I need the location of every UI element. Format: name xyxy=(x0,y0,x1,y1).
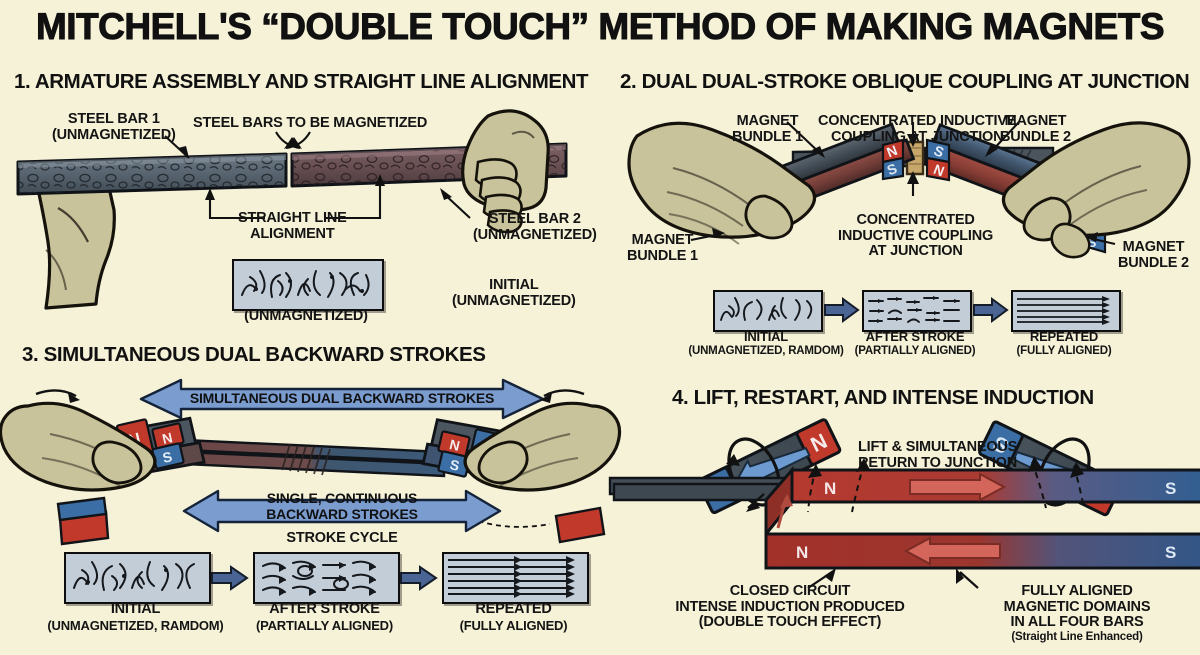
lift-l1: LIFT & SIMULTANEOUS xyxy=(858,440,1017,456)
magnet-bundle-2-poles: S N xyxy=(927,140,949,180)
circuit-bottom-n: N xyxy=(796,543,808,562)
panel-3-domain-box-1 xyxy=(253,552,400,604)
circuit-top-n: N xyxy=(824,479,836,498)
panel-1-heading: 1. ARMATURE ASSEMBLY AND STRAIGHT LINE A… xyxy=(14,70,588,94)
steel-bar-1-state: (UNMAGNETIZED) xyxy=(52,128,176,144)
domain-full-icon xyxy=(444,554,583,598)
panel-1-bars-to-magnetize-label: STEEL BARS TO BE MAGNETIZED xyxy=(193,116,427,132)
panel-2-bundle-2-right-label: MAGNET BUNDLE 2 xyxy=(1118,240,1189,271)
panel-3-seq-1-sub: (PARTIALLY ALIGNED) xyxy=(243,619,406,633)
steel-bar-2-state: (UNMAGNETIZED) xyxy=(473,228,597,244)
panel-3-arrow-0 xyxy=(212,567,248,589)
panel-3-mid-arrow: SINGLE, CONTINUOUS BACKWARD STROKES xyxy=(184,489,500,533)
panel-2-coupling-bottom-label: CONCENTRATED INDUCTIVE COUPLING AT JUNCT… xyxy=(838,213,993,260)
bundle-2-right-l2: BUNDLE 2 xyxy=(1118,256,1189,272)
panel-4-lift-label: LIFT & SIMULTANEOUS RETURN TO JUNCTION xyxy=(858,440,1017,471)
aligned-l1: FULLY ALIGNED xyxy=(962,584,1192,600)
aligned-l4: (Straight Line Enhanced) xyxy=(962,631,1192,643)
coupling-bot-l1: CONCENTRATED xyxy=(838,213,993,229)
panel-2-domain-box-1 xyxy=(862,290,972,332)
panel-2-bundle-2-top-label: MAGNET BUNDLE 2 xyxy=(1000,114,1071,145)
panel-2-heading: 2. DUAL DUAL-STROKE OBLIQUE COUPLING AT … xyxy=(620,70,1189,94)
panel-3-heading: 3. SIMULTANEOUS DUAL BACKWARD STROKES xyxy=(22,343,486,367)
panel-2-seq-0-sub: (UNMAGNETIZED, RAMDOM) xyxy=(688,345,844,357)
bundle-1-top-l1: MAGNET xyxy=(732,114,803,130)
lift-l2: RETURN TO JUNCTION xyxy=(858,456,1017,472)
panel-4-aligned-label: FULLY ALIGNED MAGNETIC DOMAINS IN ALL FO… xyxy=(962,584,1192,643)
closed-circuit-l2: INTENSE INDUCTION PRODUCED xyxy=(640,600,940,616)
coupling-top-l2: COUPLING AT JUNCTION xyxy=(818,130,1016,146)
bundle-1-left-l1: MAGNET xyxy=(627,233,698,249)
closed-circuit-l1: CLOSED CIRCUIT xyxy=(640,584,940,600)
panel-3-seq-0-sub: (UNMAGNETIZED, RAMDOM) xyxy=(44,619,227,633)
circuit-top-s: S xyxy=(1165,479,1176,498)
closed-circuit-l3: (DOUBLE TOUCH EFFECT) xyxy=(640,615,940,631)
panel-1-straight-line-label: STRAIGHT LINE ALIGNMENT xyxy=(238,211,347,242)
panel-2-seq-1-title: AFTER STROKE xyxy=(862,330,968,344)
panel-3-seq-2-sub: (FULLY ALIGNED) xyxy=(437,619,590,633)
steel-bar-2-title: STEEL BAR 2 xyxy=(473,212,597,228)
panel-2-seq-2-title: REPEATED xyxy=(1011,330,1117,344)
panel-3-seq-1-title: AFTER STROKE xyxy=(253,602,396,618)
bundle-1-top-l2: BUNDLE 1 xyxy=(732,130,803,146)
panel-1-initial-label: INITIAL (UNMAGNETIZED) xyxy=(452,278,576,309)
panel-2-arrow-0 xyxy=(825,299,859,321)
panel-1-domain-caption: (UNMAGNETIZED) xyxy=(232,309,380,325)
double-arrow-icon xyxy=(184,489,500,533)
panel-2-domain-box-2 xyxy=(1011,290,1121,332)
panel-3-arrow-1 xyxy=(401,567,437,589)
panel-3-domain-box-0 xyxy=(64,552,211,604)
panel-3-seq-2-title: REPEATED xyxy=(442,602,585,618)
domain-partial-icon xyxy=(255,554,394,598)
domain-random-icon xyxy=(66,554,205,598)
panel-3-stroke-cycle-label: STROKE CYCLE xyxy=(184,531,500,547)
panel-2-coupling-top-label: CONCENTRATED INDUCTIVE COUPLING AT JUNCT… xyxy=(818,114,1016,145)
panel-3-seq-0-title: INITIAL xyxy=(64,602,207,618)
aligned-l2: MAGNETIC DOMAINS xyxy=(962,600,1192,616)
bundle-2-top-l2: BUNDLE 2 xyxy=(1000,130,1071,146)
domain-partial-icon xyxy=(864,292,966,326)
magnet-bundle-1-poles: N S xyxy=(883,140,903,179)
panel-4-heading: 4. LIFT, RESTART, AND INTENSE INDUCTION xyxy=(672,386,1094,410)
panel-2-bundle-1-top-label: MAGNET BUNDLE 1 xyxy=(732,114,803,145)
domain-random-icon xyxy=(234,261,378,305)
straight-line-text: STRAIGHT LINE xyxy=(238,211,347,227)
domain-full-icon xyxy=(1013,292,1115,326)
circuit-bottom-s: S xyxy=(1165,543,1176,562)
panel-2-bundle-1-left-label: MAGNET BUNDLE 1 xyxy=(627,233,698,264)
page-title: MITCHELL'S “DOUBLE TOUCH” METHOD OF MAKI… xyxy=(0,6,1200,48)
panel-2-seq-2-sub: (FULLY ALIGNED) xyxy=(1001,345,1127,357)
coupling-bot-l2: INDUCTIVE COUPLING xyxy=(838,229,993,245)
steel-bar-1 xyxy=(18,154,286,194)
coupling-top-l1: CONCENTRATED INDUCTIVE xyxy=(818,114,1016,130)
bundle-2-right-l1: MAGNET xyxy=(1118,240,1189,256)
coupling-bot-l3: AT JUNCTION xyxy=(838,244,993,260)
panel-2-domain-box-0 xyxy=(713,290,823,332)
panel-2-seq-0-title: INITIAL xyxy=(713,330,819,344)
panel-2-seq-1-sub: (PARTIALLY ALIGNED) xyxy=(847,345,983,357)
domain-random-icon xyxy=(715,292,817,326)
infographic-canvas: MITCHELL'S “DOUBLE TOUCH” METHOD OF MAKI… xyxy=(0,0,1200,655)
panel-4-closed-circuit: N S N S xyxy=(614,470,1200,568)
panel-2-arrow-1 xyxy=(974,299,1008,321)
initial-sub: (UNMAGNETIZED) xyxy=(452,294,576,310)
initial-title: INITIAL xyxy=(452,278,576,294)
steel-bar-1-title: STEEL BAR 1 xyxy=(52,112,176,128)
panel-3-domain-box-2 xyxy=(442,552,589,604)
alignment-text: ALIGNMENT xyxy=(238,227,347,243)
aligned-l3: IN ALL FOUR BARS xyxy=(962,615,1192,631)
panel-1-steel-bar-2-label: STEEL BAR 2 (UNMAGNETIZED) xyxy=(473,212,597,243)
bundle-2-top-l1: MAGNET xyxy=(1000,114,1071,130)
panel-4-closed-circuit-label: CLOSED CIRCUIT INTENSE INDUCTION PRODUCE… xyxy=(640,584,940,631)
panel-1-domain-box-unmagnetized xyxy=(232,259,384,311)
panel-3-armature-bars xyxy=(184,440,444,476)
panel-1-steel-bar-1-label: STEEL BAR 1 (UNMAGNETIZED) xyxy=(52,112,176,143)
bundle-1-left-l2: BUNDLE 1 xyxy=(627,249,698,265)
